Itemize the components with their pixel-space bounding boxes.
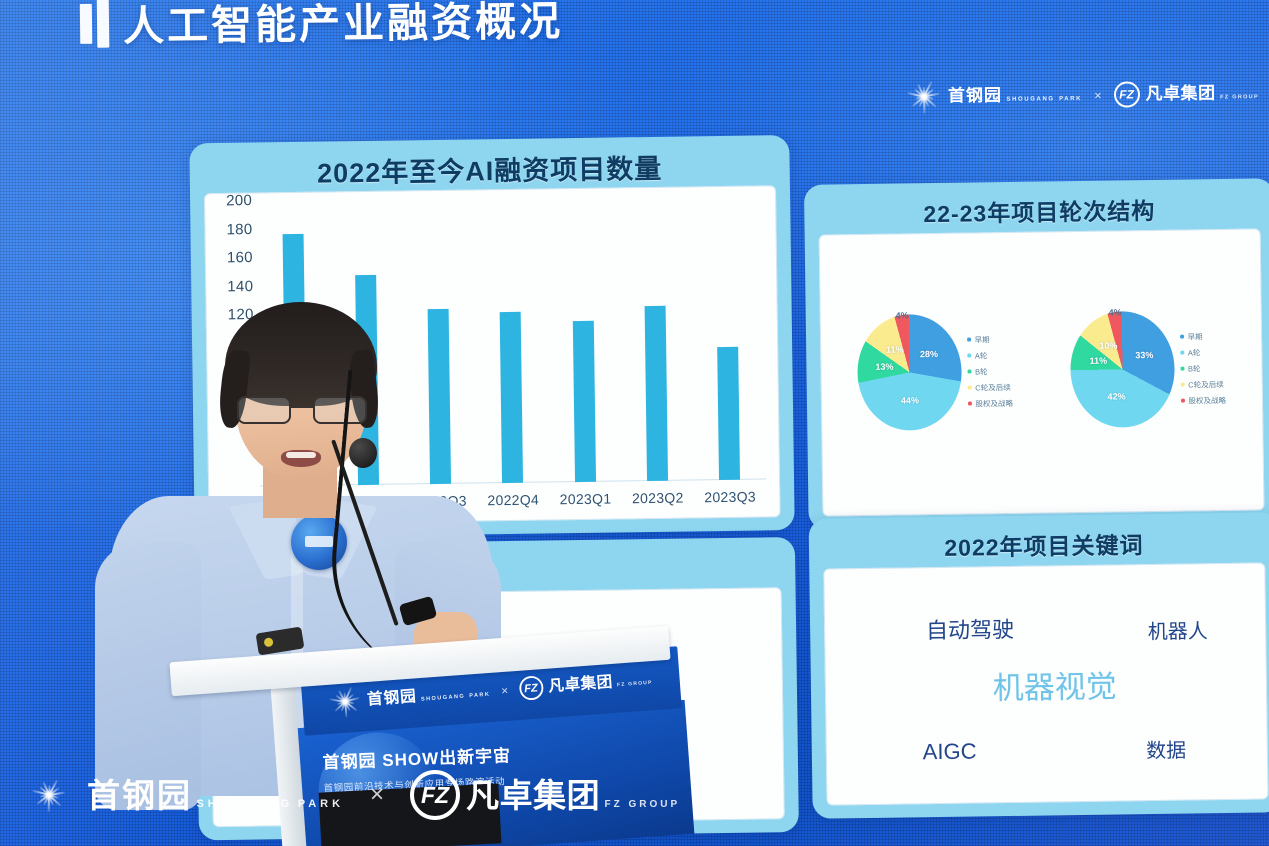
pie-legend-item: C轮及后续 [1181,378,1226,390]
footer-shougang-en-2: PARK [298,798,344,810]
keyword-cloud-2022: 自动驾驶机器人机器视觉AIGC数据 [823,562,1268,805]
starburst-icon [907,79,941,113]
corner-brand-lockup: 首钢园 SHOUGANG PARK × FZ 凡卓集团 FZ GROUP [907,76,1259,114]
fz-monogram-icon: FZ [1114,81,1140,107]
bar-chart-bar [717,347,740,480]
podium-shougang-en-2: PARK [469,692,490,699]
keyword-item: 自动驾驶 [926,612,1014,645]
starburst-icon [18,764,80,826]
footer-shougang-cn: 首钢园 [87,777,192,814]
footer-fz-en: FZ GROUP [605,799,681,810]
legend-swatch-icon [1180,351,1184,355]
screenshot-stage: 人工智能产业融资概况 首钢园 SHOUGANG PARK × FZ 凡卓集团 F… [0,0,1269,846]
fz-name-en: FZ GROUP [1220,94,1259,100]
footer-shougang-en-1: SHOUGANG [196,798,293,810]
pie-chart-unit: 28%44%13%11%4%早期A轮B轮C轮及后续股权及战略 [857,313,1014,431]
bar-chart-y-tick: 180 [226,221,252,238]
fz-monogram-icon: FZ [410,770,460,820]
bar-chart-y-tick: 200 [226,192,252,209]
pie-chart: 28%44%13%11%4% [857,314,963,431]
bar-chart-x-label: 2023Q1 [549,490,621,507]
podium-fz-cn: 凡卓集团 [548,673,614,695]
presenter-mouth [281,450,321,467]
pie-legend-item: 早期 [1180,330,1225,342]
shougang-name-en-1: SHOUGANG [1007,96,1055,103]
keyword-item: AIGC [923,738,977,765]
pie-chart-card: 28%44%13%11%4%早期A轮B轮C轮及后续股权及战略33%42%11%1… [819,228,1265,516]
legend-swatch-icon [1180,367,1184,371]
fz-group-logo: FZ 凡卓集团 FZ GROUP [1114,80,1260,108]
podium-fz-en: FZ GROUP [617,680,653,688]
bar-chart-x-label: 2023Q2 [622,489,694,506]
pie-legend-item: 早期 [967,333,1012,345]
pie-slice-label: 10% [1099,341,1117,351]
fz-name-cn: 凡卓集团 [1146,84,1216,104]
footer-fz-cn: 凡卓集团 [466,777,600,814]
pie-chart-legend: 早期A轮B轮C轮及后续股权及战略 [967,333,1013,409]
slide-title: 人工智能产业融资概况 [123,0,564,52]
bar-chart-bar [573,321,596,482]
footer-x-separator: × [370,781,384,809]
bar-chart-column [545,201,621,482]
pie-chart-unit: 33%42%11%10%4%早期A轮B轮C轮及后续股权及战略 [1070,310,1227,428]
podium-x-separator: × [501,683,509,697]
pie-chart-group: 28%44%13%11%4%早期A轮B轮C轮及后续股权及战略33%42%11%1… [819,228,1265,516]
panel-keywords-2022: 2022年项目关键词 自动驾驶机器人机器视觉AIGC数据 [809,512,1269,819]
shougang-name-en-2: PARK [1059,96,1082,102]
shougang-park-logo: 首钢园 SHOUGANG PARK [907,78,1082,114]
pie-legend-item: C轮及后续 [968,381,1013,393]
panel-pie-charts: 22-23年项目轮次结构 28%44%13%11%4%早期A轮B轮C轮及后续股权… [804,178,1269,530]
pie-slice-label: 11% [886,344,904,354]
keyword-item: 机器视觉 [992,661,1117,708]
bar-chart-column [690,199,766,480]
pie-slice-label: 13% [875,362,893,372]
pie-chart: 33%42%11%10%4% [1070,311,1176,428]
pie-legend-item: A轮 [967,349,1012,361]
legend-swatch-icon [967,338,971,342]
pie-slice-label: 4% [896,310,909,320]
pie-slice-label: 42% [1107,391,1125,401]
keyword-item: 机器人 [1148,615,1208,645]
footer-brand-lockup: 首钢园 SHOUGANG PARK × FZ 凡卓集团 FZ GROUP [18,764,680,826]
pie-slice-label: 11% [1089,355,1107,365]
footer-fz-logo: FZ 凡卓集团 FZ GROUP [410,770,680,820]
shougang-name-cn: 首钢园 [948,86,1002,106]
pie-slice-label: 4% [1109,307,1122,317]
starburst-icon [328,685,361,718]
keyword-item: 数据 [1146,734,1186,764]
bar-chart-y-tick: 160 [227,249,253,266]
fz-monogram-icon: FZ [518,675,544,701]
brand-x-separator: × [1094,87,1102,102]
pie-legend-item: B轮 [967,365,1012,377]
pie-legend-item: B轮 [1180,362,1225,374]
pie-legend-item: 股权及战略 [968,397,1013,409]
footer-shougang-logo: 首钢园 SHOUGANG PARK [18,764,344,826]
podium-fz-logo: FZ 凡卓集团 FZ GROUP [518,667,653,701]
keywords-2022-card: 自动驾驶机器人机器视觉AIGC数据 [823,562,1268,805]
pie-chart-legend: 早期A轮B轮C轮及后续股权及战略 [1180,330,1226,406]
bar-chart-column [618,200,694,481]
podium-shougang-cn: 首钢园 [367,687,418,708]
legend-swatch-icon [968,370,972,374]
bar-chart-bar [645,306,668,481]
slide-title-bar: 人工智能产业融资概况 [80,0,564,53]
microphone-head-icon [349,438,377,468]
title-bar-mark-icon [80,0,110,48]
pie-slice-label: 28% [920,349,938,359]
legend-swatch-icon [1181,383,1185,387]
pie-slice-label: 44% [901,395,919,405]
legend-swatch-icon [968,386,972,390]
legend-swatch-icon [1180,335,1184,339]
legend-swatch-icon [968,402,972,406]
legend-swatch-icon [967,354,971,358]
pie-legend-item: 股权及战略 [1181,394,1226,406]
pie-legend-item: A轮 [1180,346,1225,358]
legend-swatch-icon [1181,399,1185,403]
pie-slice-label: 33% [1135,350,1153,360]
podium-shougang-en-1: SHOUGANG [421,694,466,703]
bar-chart-x-label: 2023Q3 [694,488,766,505]
